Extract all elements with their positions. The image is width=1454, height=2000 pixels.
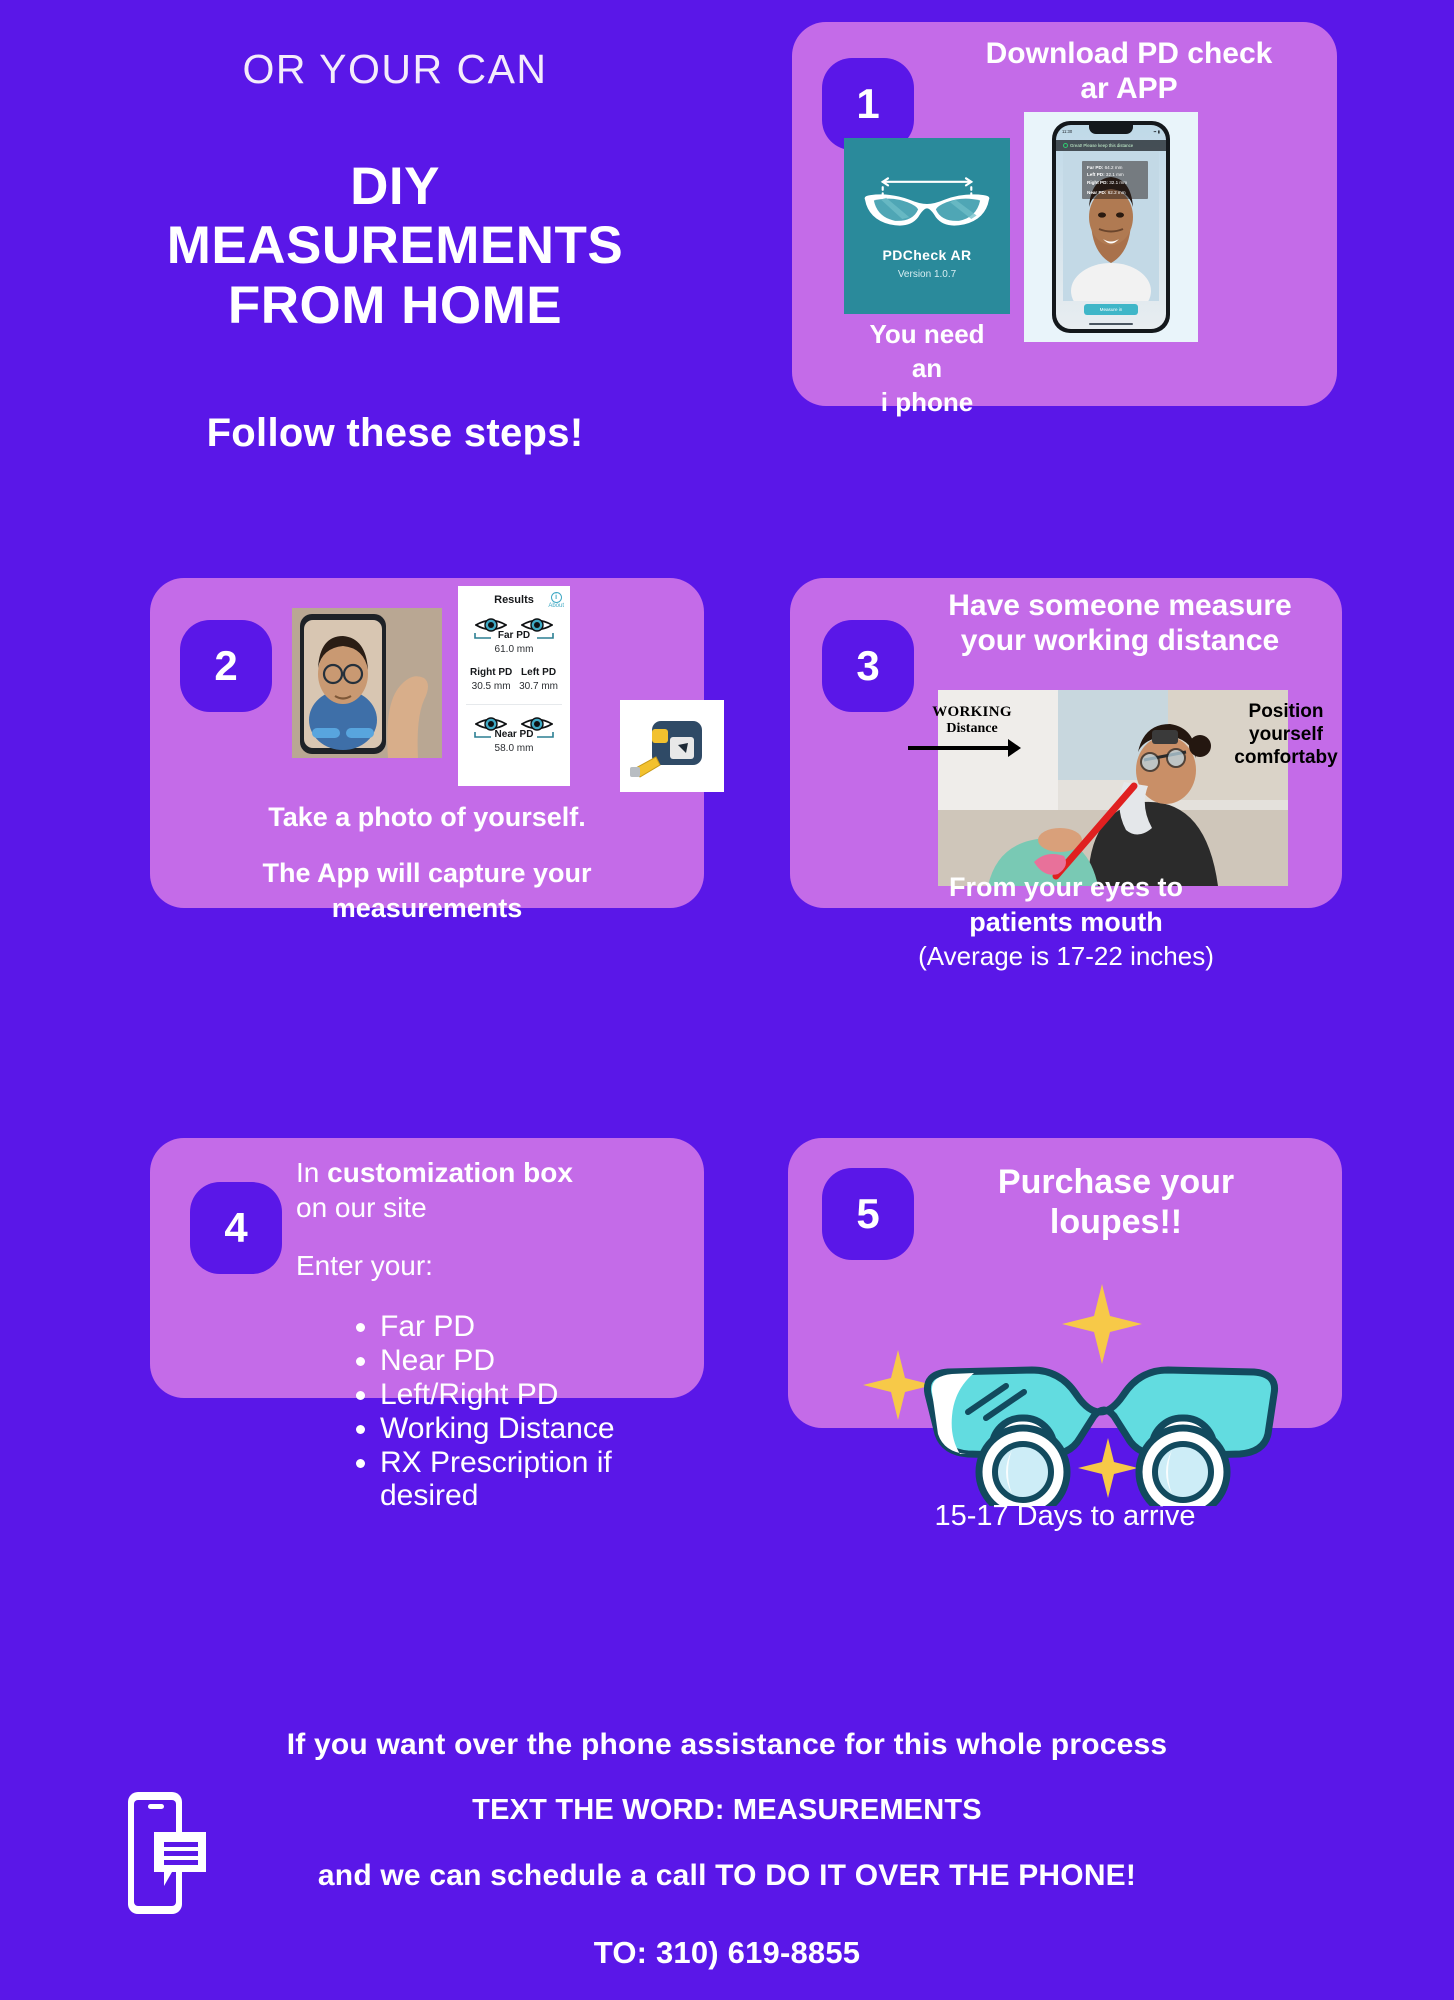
- step-4-heading: In customization box on our site: [296, 1156, 676, 1225]
- working-distance-arrow-line: [908, 746, 1010, 750]
- working-distance-label: WORKING Distance: [908, 704, 1036, 736]
- pd-value: 32.1 mm: [1106, 172, 1124, 177]
- working-label-line-2: Distance: [908, 721, 1036, 736]
- bracket-right-icon: [536, 632, 554, 640]
- step-3-title-line-2: your working distance: [920, 623, 1320, 658]
- results-screen: i About Results Far PD 61.0: [458, 586, 570, 786]
- right-pd-label: Right PD: [470, 667, 512, 678]
- bracket-right-icon: [536, 731, 554, 739]
- footer-line-1: If you want over the phone assistance fo…: [0, 1728, 1454, 1762]
- bracket-left-icon: [474, 731, 492, 739]
- step-2-caption-2: The App will capture your measurements: [150, 856, 704, 926]
- loupes-icon: [836, 1266, 1296, 1506]
- hero-kicker: OR YOUR CAN: [0, 46, 790, 93]
- phone-screenshot: 11:30 ▪▪ ▮ Great! Please keep th: [1024, 112, 1198, 342]
- position-label: Position yourself comfortaby: [1230, 700, 1342, 770]
- status-icons: ▪▪ ▮: [1154, 129, 1160, 134]
- phone-mockup: 11:30 ▪▪ ▮ Great! Please keep th: [1052, 121, 1170, 333]
- step-1-title: Download PD check ar APP: [934, 36, 1324, 107]
- step-4-heading-line-1: In customization box: [296, 1156, 676, 1191]
- step-2-badge: 2: [180, 620, 272, 712]
- right-pd-value: 30.5 mm: [470, 681, 512, 692]
- step-1-title-line-2: ar APP: [934, 71, 1324, 106]
- pd-label: Near PD:: [1087, 190, 1106, 195]
- position-label-line-3: comfortaby: [1230, 746, 1342, 769]
- check-circle-icon: [1063, 143, 1068, 148]
- step-1-badge: 1: [822, 58, 914, 150]
- left-pd-label: Left PD: [519, 667, 558, 678]
- step-2-caption-line-3: measurements: [150, 891, 704, 926]
- step-2-caption-line-2: The App will capture your: [150, 856, 704, 891]
- step-3-caption-line-3: (Average is 17-22 inches): [790, 940, 1342, 974]
- step-4-enter-label: Enter your:: [296, 1250, 433, 1282]
- pdcheck-app-tile: PDCheck AR Version 1.0.7: [844, 138, 1010, 314]
- step-5-title-line-2: loupes!!: [916, 1202, 1316, 1242]
- tape-measure-photo: [620, 700, 724, 792]
- step-1-caption-line-2: an: [832, 352, 1022, 386]
- banner-text: Great! Please keep this distance: [1070, 143, 1133, 148]
- working-distance-arrow-head: [1008, 739, 1021, 757]
- glasses-pd-icon: [852, 173, 1002, 235]
- list-item: Left/Right PD: [380, 1378, 686, 1412]
- phone-screen: 11:30 ▪▪ ▮ Great! Please keep th: [1056, 125, 1166, 329]
- page-title-line-2: MEASUREMENTS: [0, 216, 790, 275]
- step-3-title-line-1: Have someone measure: [920, 588, 1320, 623]
- info-icon[interactable]: i: [551, 592, 562, 603]
- step-3-card: 3 Have someone measure your working dist…: [790, 578, 1342, 908]
- position-label-line-2: yourself: [1230, 723, 1342, 746]
- page-title: DIY MEASUREMENTS FROM HOME: [0, 157, 790, 335]
- phone-notch: [1089, 125, 1133, 134]
- pd-reading-row: Far PD: 64.2 mm: [1087, 165, 1143, 170]
- pd-value: 62.2 mm: [1108, 190, 1126, 195]
- pd-label: Right PD:: [1087, 180, 1108, 185]
- step-1-caption-line-3: i phone: [832, 386, 1022, 420]
- selfie-illustration: [292, 608, 442, 758]
- results-divider: [466, 704, 562, 705]
- step-4-head-plain: In: [296, 1157, 327, 1188]
- list-item: Far PD: [380, 1310, 686, 1344]
- about-label: About: [548, 603, 564, 609]
- hero-subtitle: Follow these steps!: [0, 411, 790, 456]
- step-1-card: 1 Download PD check ar APP PDCheck AR Ve…: [792, 22, 1337, 406]
- left-pd-value: 30.7 mm: [519, 681, 558, 692]
- left-right-pd-row: Right PD 30.5 mm Left PD 30.7 mm: [458, 667, 570, 692]
- hero-section: OR YOUR CAN DIY MEASUREMENTS FROM HOME F…: [0, 0, 790, 520]
- step-3-caption: From your eyes to patients mouth (Averag…: [790, 870, 1342, 974]
- near-pd-value: 58.0 mm: [458, 743, 570, 754]
- step-2-caption-1: Take a photo of yourself.: [150, 800, 704, 835]
- step-4-heading-line-2: on our site: [296, 1191, 676, 1226]
- step-4-badge: 4: [190, 1182, 282, 1274]
- phone-home-indicator: [1089, 323, 1133, 325]
- status-time: 11:30: [1062, 129, 1072, 134]
- pd-reading-row: Left PD: 32.1 mm: [1087, 172, 1143, 177]
- bracket-left-icon: [474, 632, 492, 640]
- list-item: Near PD: [380, 1344, 686, 1378]
- far-pd-value: 61.0 mm: [458, 644, 570, 655]
- step-5-badge: 5: [822, 1168, 914, 1260]
- footer-phone-number: TO: 310) 619-8855: [0, 1935, 1454, 1971]
- pd-label: Far PD:: [1087, 165, 1103, 170]
- loupes-illustration: [836, 1266, 1296, 1506]
- footer-section: If you want over the phone assistance fo…: [0, 1728, 1454, 1971]
- step-4-head-bold: customization box: [327, 1157, 573, 1188]
- step-3-title: Have someone measure your working distan…: [920, 588, 1320, 659]
- app-name: PDCheck AR: [882, 247, 971, 263]
- page-title-line-1: DIY: [0, 157, 790, 216]
- list-item: RX Prescription if desired: [380, 1446, 686, 1514]
- tape-measure-icon: [626, 711, 718, 781]
- pd-label: Left PD:: [1087, 172, 1105, 177]
- working-label-line-1: WORKING: [908, 704, 1036, 721]
- app-version: Version 1.0.7: [898, 269, 956, 280]
- selfie-photo: [292, 608, 442, 758]
- step-4-list: Far PD Near PD Left/Right PD Working Dis…: [346, 1310, 686, 1513]
- pd-value: 64.2 mm: [1105, 165, 1123, 170]
- step-5-title-line-1: Purchase your: [916, 1162, 1316, 1202]
- step-5-title: Purchase your loupes!!: [916, 1162, 1316, 1242]
- step-3-caption-line-2: patients mouth: [790, 905, 1342, 940]
- distance-ok-banner: Great! Please keep this distance: [1056, 140, 1166, 151]
- about-info: i About: [548, 592, 564, 609]
- footer-line-2: TEXT THE WORD: MEASUREMENTS: [0, 1794, 1454, 1827]
- footer-line-3: and we can schedule a call TO DO IT OVER…: [0, 1859, 1454, 1893]
- measure-button[interactable]: Measure in: [1084, 304, 1138, 315]
- sms-phone-icon: [124, 1790, 210, 1916]
- step-1-caption-line-1: You need: [832, 318, 1022, 352]
- pd-readings-panel: Far PD: 64.2 mm Left PD: 32.1 mm Right P…: [1082, 161, 1148, 199]
- pd-reading-row: Near PD: 62.2 mm: [1087, 190, 1143, 195]
- step-5-card: 5 Purchase your loupes!!: [788, 1138, 1342, 1428]
- page-title-line-3: FROM HOME: [0, 276, 790, 335]
- pd-value: 32.1 mm: [1109, 180, 1127, 185]
- step-1-caption: You need an i phone: [832, 318, 1022, 419]
- list-item: Working Distance: [380, 1412, 686, 1446]
- pd-reading-row: Right PD: 32.1 mm: [1087, 180, 1143, 185]
- step-3-badge: 3: [822, 620, 914, 712]
- step-4-card: 4 In customization box on our site Enter…: [150, 1138, 704, 1398]
- step-1-title-line-1: Download PD check: [934, 36, 1324, 71]
- position-label-line-1: Position: [1230, 700, 1342, 723]
- delivery-estimate: 15-17 Days to arrive: [788, 1500, 1342, 1533]
- step-3-caption-line-1: From your eyes to: [790, 870, 1342, 905]
